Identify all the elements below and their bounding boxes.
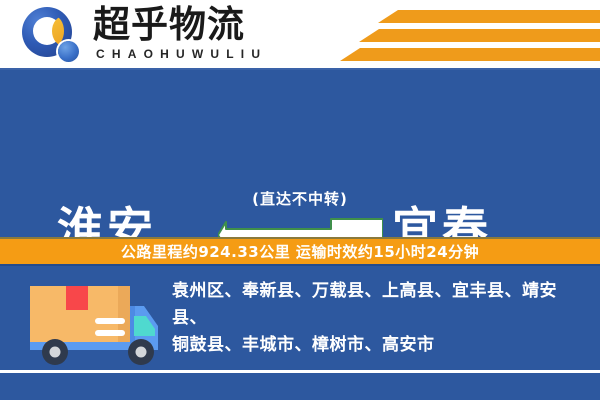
distance-duration-text: 公路里程约924.33公里 运输时效约15小时24分钟 (121, 241, 479, 262)
coverage-line-1: 袁州区、奉新县、万载县、上高县、宜丰县、靖安县、 (172, 278, 584, 332)
header-stripe-1 (378, 10, 600, 23)
coverage-section: 袁州区、奉新县、万载县、上高县、宜丰县、靖安县、 铜鼓县、丰城市、樟树市、高安市 (0, 266, 600, 400)
logistics-route-poster: 超乎物流 CHAOHUWULIU 淮安 宜春 (直达不中转) 【往返运输】 公路… (0, 0, 600, 400)
ground-line-divider (0, 370, 600, 373)
coverage-area-list: 袁州区、奉新县、万载县、上高县、宜丰县、靖安县、 铜鼓县、丰城市、樟树市、高安市 (172, 278, 584, 359)
header-stripe-3 (340, 48, 600, 61)
brand-name-cn: 超乎物流 (93, 4, 245, 46)
route-section: 淮安 宜春 (直达不中转) 【往返运输】 (0, 70, 600, 237)
direct-service-note: (直达不中转) (0, 188, 600, 209)
brand-name-en: CHAOHUWULIU (96, 47, 267, 61)
distance-duration-bar: 公路里程约924.33公里 运输时效约15小时24分钟 (0, 237, 600, 266)
logo-accent-dot-icon (58, 41, 79, 62)
delivery-truck-icon (22, 274, 164, 374)
brand-logo-icon (22, 7, 80, 64)
poster-header: 超乎物流 CHAOHUWULIU (0, 0, 600, 70)
header-stripes-decoration (340, 0, 600, 70)
header-stripe-2 (359, 29, 600, 42)
coverage-line-2: 铜鼓县、丰城市、樟树市、高安市 (172, 332, 584, 359)
